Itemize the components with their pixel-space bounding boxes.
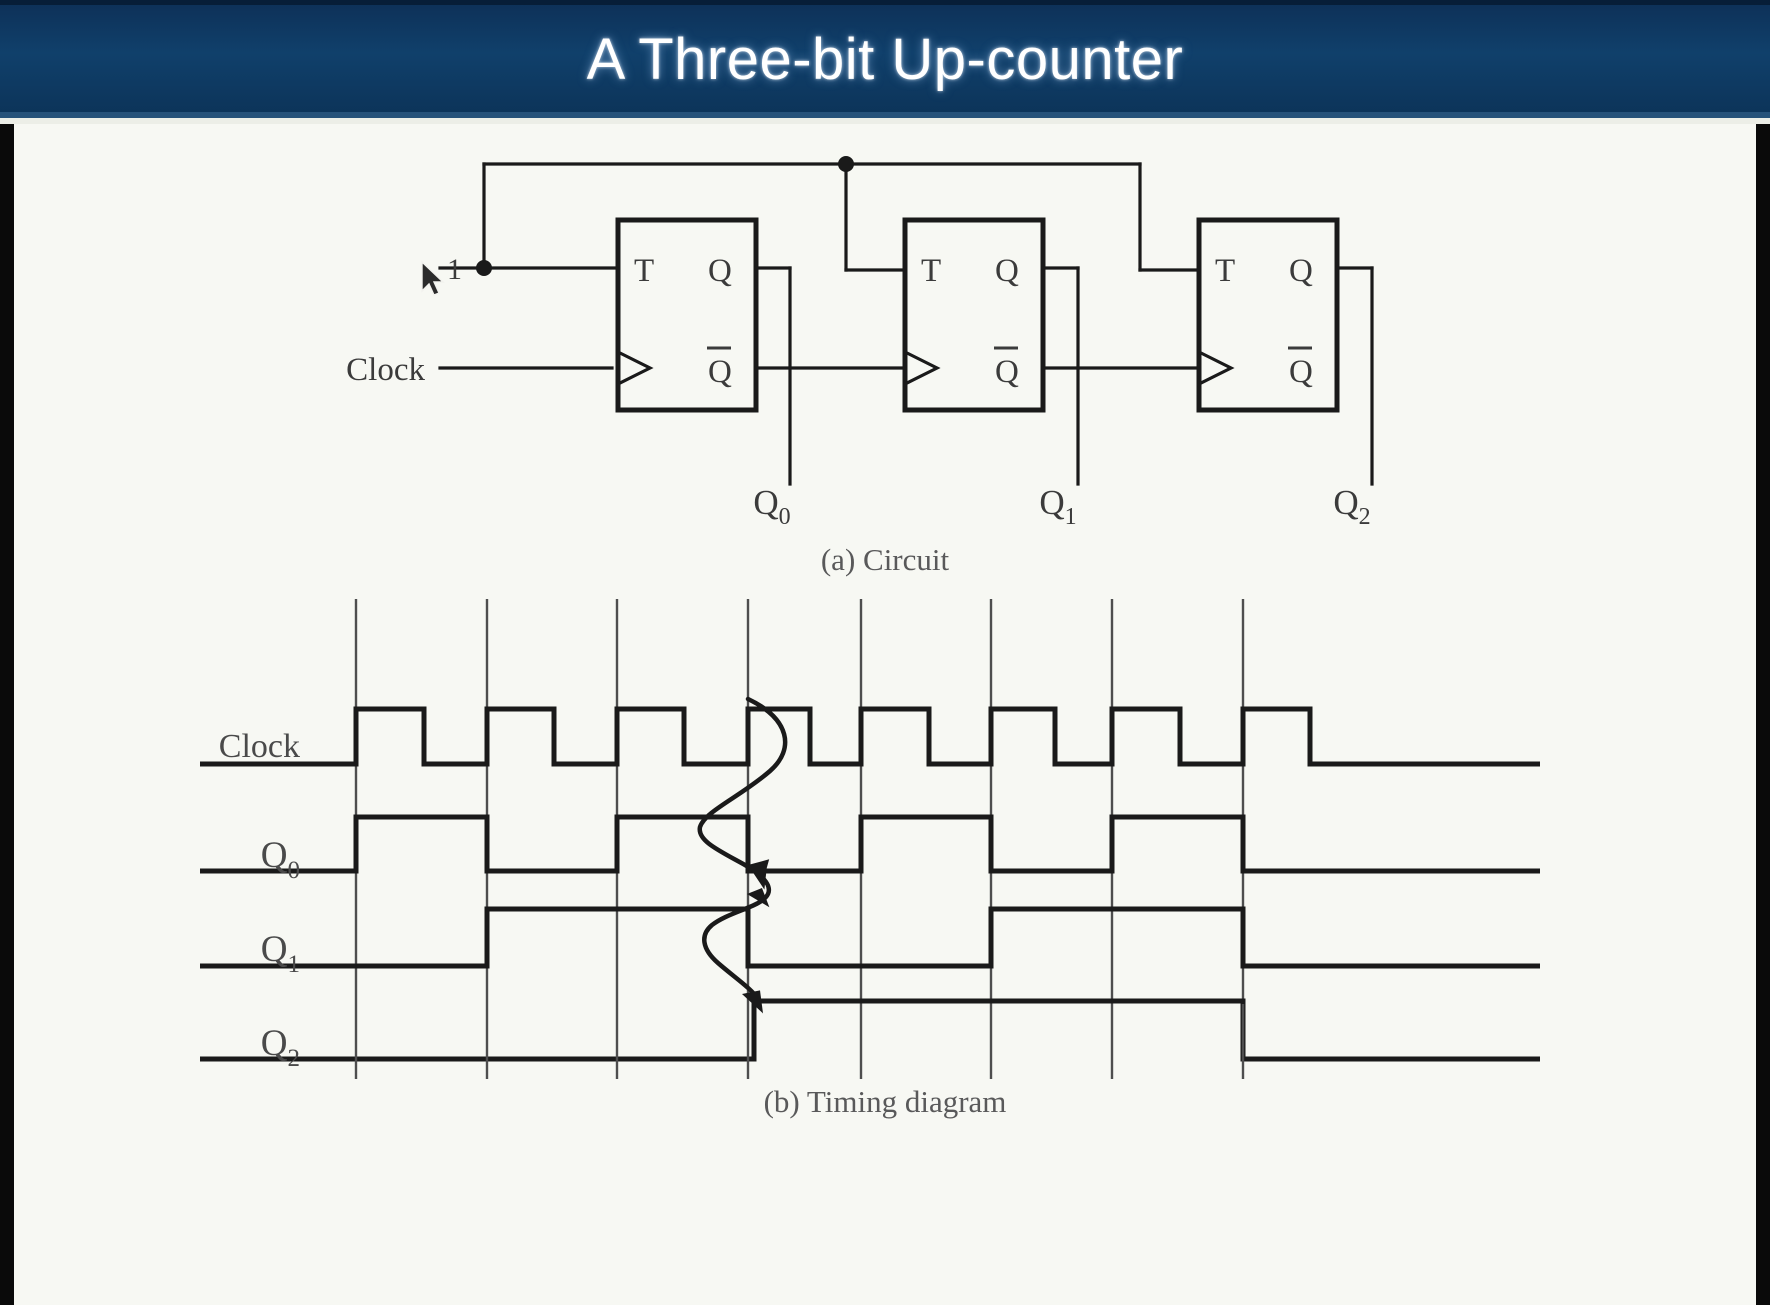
- annotation-arrowheads: [738, 852, 778, 1014]
- input-one-label: 1: [447, 253, 462, 286]
- circuit-clock-label: Clock: [346, 352, 425, 388]
- title-bar: A Three-bit Up-counter: [0, 0, 1770, 118]
- propagation-delay-annotation: [700, 699, 785, 999]
- output-label-q1: Q1: [1039, 483, 1076, 530]
- caption-circuit: (a) Circuit: [0, 542, 1770, 578]
- flipflop-2: T Q Q: [1199, 220, 1337, 410]
- timing-row-label-q0: Q0: [261, 835, 300, 884]
- caption-timing: (b) Timing diagram: [0, 1084, 1770, 1120]
- title-bar-top-edge: [0, 0, 1770, 5]
- junction-dot-input: [476, 260, 492, 276]
- timing-row-label-clock: Clock: [219, 728, 300, 765]
- figure-area: T Q Q T Q Q: [0, 124, 1770, 1305]
- flipflop-0: T Q Q: [618, 220, 756, 410]
- output-label-q0: Q0: [753, 483, 790, 530]
- junction-dot-bus: [838, 156, 854, 172]
- ff2-qbar-label: Q: [1289, 354, 1313, 390]
- waveform-q1: [200, 909, 1540, 966]
- output-label-q2: Q2: [1333, 483, 1370, 530]
- ff1-q-label: Q: [995, 253, 1019, 289]
- waveform-clock: [200, 709, 1540, 764]
- ff2-q-label: Q: [1289, 253, 1313, 289]
- flipflop-1: T Q Q: [905, 220, 1043, 410]
- waveform-q0: [200, 817, 1540, 871]
- slide-canvas: A Three-bit Up-counter: [0, 0, 1770, 1305]
- timing-diagram: Clock Q0 Q1 Q2 Count 0 1 2 3 4 5: [0, 589, 1770, 1109]
- waveform-q2: [200, 1001, 1540, 1059]
- circuit-diagram: T Q Q T Q Q: [0, 124, 1770, 544]
- timing-row-label-q2: Q2: [261, 1023, 300, 1072]
- timing-row-label-q1: Q1: [261, 929, 300, 978]
- ff0-t-label: T: [634, 253, 654, 289]
- ff0-q-label: Q: [708, 253, 732, 289]
- ff1-t-label: T: [921, 253, 941, 289]
- timing-gridline-ticks: [356, 1004, 1243, 1079]
- ff2-t-label: T: [1215, 253, 1235, 289]
- ff1-qbar-label: Q: [995, 354, 1019, 390]
- ff0-qbar-label: Q: [708, 354, 732, 390]
- page-title: A Three-bit Up-counter: [587, 26, 1184, 93]
